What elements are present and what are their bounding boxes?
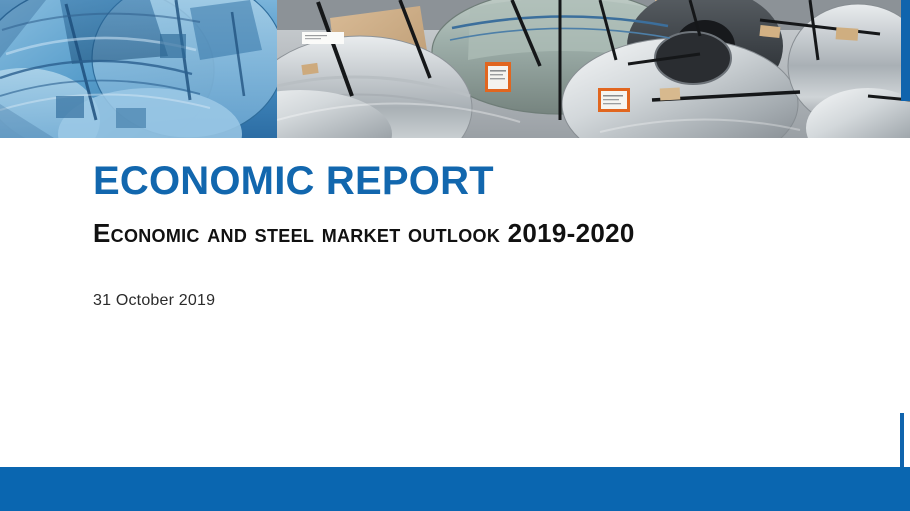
page-title: ECONOMIC REPORT bbox=[93, 160, 853, 203]
bottom-blue-bar bbox=[0, 467, 910, 511]
page-subtitle: Economic and steel market outlook 2019-2… bbox=[93, 219, 853, 248]
header-right-blue-accent bbox=[901, 0, 910, 101]
full-colour-steel-coils bbox=[208, 0, 910, 138]
right-vertical-blue-rule bbox=[900, 413, 904, 467]
title-slide: ECONOMIC REPORT Economic and steel marke… bbox=[0, 0, 910, 511]
blue-duotone-steel-coils bbox=[0, 0, 284, 138]
coil-paper-label bbox=[302, 32, 344, 44]
publication-date: 31 October 2019 bbox=[93, 292, 853, 310]
header-image-band bbox=[0, 0, 910, 138]
title-text-block: ECONOMIC REPORT Economic and steel marke… bbox=[93, 160, 853, 310]
steel-coils-photo bbox=[0, 0, 910, 138]
coil-id-tag-orange-2 bbox=[598, 88, 630, 112]
coil-id-tag-orange bbox=[485, 62, 511, 92]
